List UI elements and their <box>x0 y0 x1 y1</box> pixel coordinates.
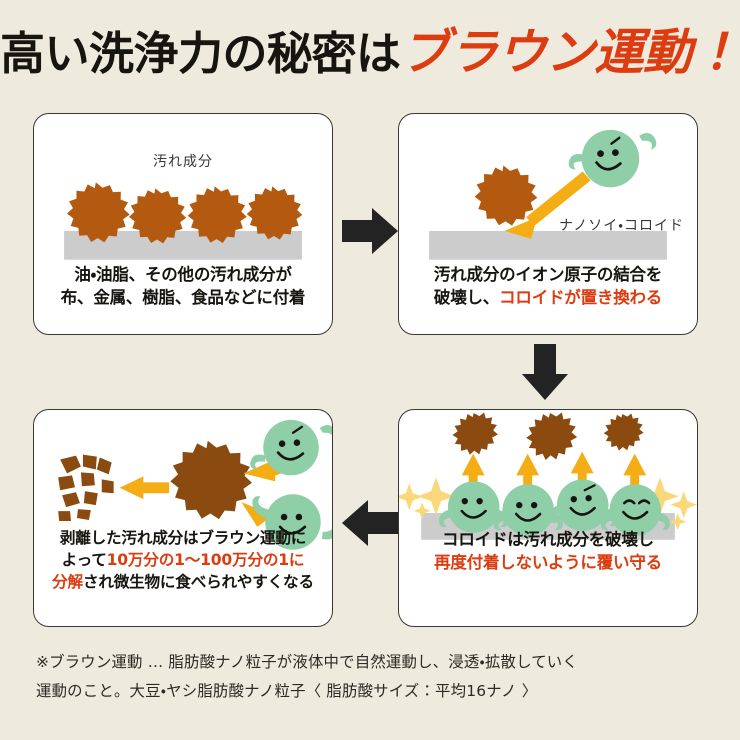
caption-line: よって10万分の1〜100万分の1に <box>33 550 333 572</box>
infographic-root: 高い洗浄力の秘密はブラウン運動！ 汚れ成分 <box>0 0 740 740</box>
fragment <box>102 479 114 493</box>
title-accent: ブラウン運動 <box>401 24 692 81</box>
footnote: ※ブラウン運動 … 脂肪酸ナノ粒子が液体中で自然運動し、浸透・拡散していく 運動… <box>36 648 712 705</box>
caption-line: コロイドは汚れ成分を破壊し <box>398 528 698 551</box>
caption-segment: 汚れ成分のイオン原子の結合を <box>434 265 662 284</box>
fragment <box>77 509 91 520</box>
colloid-eye-right <box>612 149 619 156</box>
caption-segment: 破壊し、 <box>434 288 499 307</box>
caption-line: 剥離した汚れ成分はブラウン運動に <box>33 528 333 550</box>
panel-3-caption: コロイドは汚れ成分を破壊し再度付着しないように覆い守る <box>398 528 698 575</box>
title-lead: 高い洗浄力の秘密は <box>0 27 401 80</box>
panel-1-caption: 油・油脂、その他の汚れ成分が布、金属、樹脂、食品などに付着 <box>33 263 333 310</box>
caption-line: 分解され微生物に食べられやすくなる <box>33 572 333 594</box>
caption-segment: コロイドが置き換わる <box>499 288 662 307</box>
fragment <box>62 492 80 507</box>
sparkle <box>399 483 423 510</box>
panel-4-illustration <box>34 410 332 626</box>
colloid-eye-left <box>597 150 604 157</box>
panel-4-caption: 剥離した汚れ成分はブラウン運動によって10万分の1〜100万分の1に分解され微生… <box>33 528 333 593</box>
caption-segment: コロイドは汚れ成分を破壊し <box>442 530 654 549</box>
caption-segment: 剥離した汚れ成分はブラウン運動に <box>60 529 306 547</box>
panel-2-caption: 汚れ成分のイオン原子の結合を破壊し、コロイドが置き換わる <box>398 263 698 310</box>
caption-line: 再度付着しないように覆い守る <box>398 551 698 574</box>
caption-line: 汚れ成分のイオン原子の結合を <box>398 263 698 286</box>
caption-segment: 再度付着しないように覆い守る <box>434 553 662 572</box>
footnote-line-1: ※ブラウン運動 … 脂肪酸ナノ粒子が液体中で自然運動し、浸透・拡散していく <box>36 648 712 677</box>
dirt-particle-large <box>170 441 252 519</box>
caption-line: 油・油脂、その他の汚れ成分が <box>33 263 333 286</box>
panel-step-4 <box>33 409 333 627</box>
dirt-particle-group <box>452 412 643 460</box>
caption-segment: され微生物に食べられやすくなる <box>83 573 314 591</box>
caption-segment: 布、金属、樹脂、食品などに付着 <box>61 288 306 307</box>
footnote-line-2: 運動のこと。大豆・ヤシ脂肪酸ナノ粒子〈 脂肪酸サイズ：平均16ナノ 〉 <box>36 677 712 706</box>
fragment <box>60 456 81 474</box>
caption-segment: よって <box>62 551 107 569</box>
dirt-particle <box>452 412 498 454</box>
arrow-left-panel3-to-panel4 <box>338 496 400 550</box>
fragment <box>58 475 75 490</box>
fragment <box>84 491 98 505</box>
panel-step-3 <box>398 409 698 627</box>
caption-line: 布、金属、樹脂、食品などに付着 <box>33 286 333 309</box>
fragment <box>81 472 95 486</box>
caption-segment: 10万分の1〜100万分の1に <box>107 551 305 569</box>
dirt-particle <box>604 413 644 450</box>
surface-bar <box>429 231 667 260</box>
label-dirt-component: 汚れ成分 <box>34 151 332 171</box>
decomposed-fragment-group <box>58 455 113 521</box>
panel-3-illustration <box>399 410 697 626</box>
arrow-right-panel1-to-panel2 <box>340 204 402 258</box>
arrow-down-panel2-to-panel3 <box>518 342 572 404</box>
yellow-arrow-to-fragments <box>120 476 170 499</box>
fragment <box>97 458 112 475</box>
page-title: 高い洗浄力の秘密はブラウン運動！ <box>0 28 740 77</box>
fragment <box>58 511 71 521</box>
dirt-particle <box>526 412 577 460</box>
caption-segment: 油・油脂、その他の汚れ成分が <box>74 265 291 284</box>
title-exclamation: ！ <box>692 24 740 81</box>
label-nanosoy-colloid: ナノソイ・コロイド <box>559 215 684 235</box>
colloid-body <box>582 130 639 187</box>
fragment <box>83 455 97 470</box>
caption-segment: 分解 <box>52 573 83 591</box>
caption-line: 破壊し、コロイドが置き換わる <box>398 286 698 309</box>
